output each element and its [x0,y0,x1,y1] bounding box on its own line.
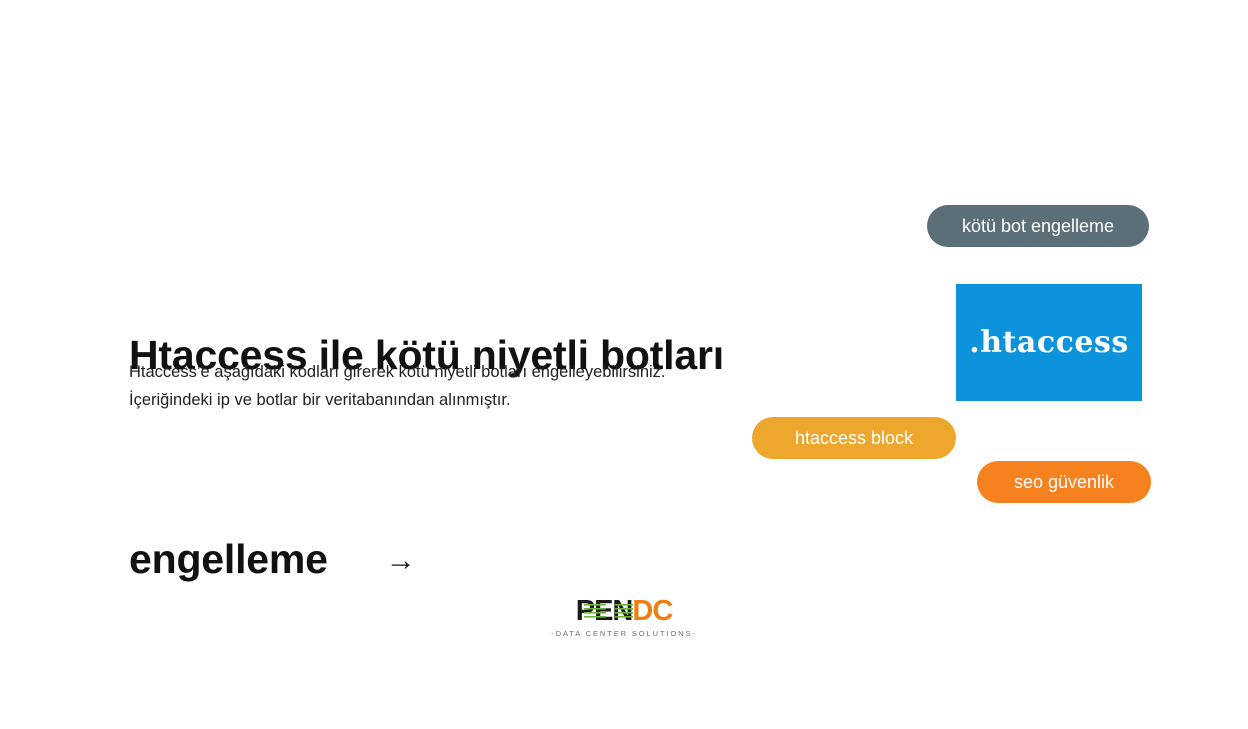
headline-line-2-row: engelleme → [129,525,859,593]
brand-logo: PENDC -DATA CENTER SOLUTIONS- [0,596,1248,638]
body-paragraph: Htaccess’e aşağıdaki kodları girerek köt… [129,358,729,414]
headline-line-2: engelleme [129,525,328,593]
brand-logo-tagline: -DATA CENTER SOLUTIONS- [551,629,697,638]
tag-pill-htaccess-block[interactable]: htaccess block [752,417,956,459]
brand-logo-wordmark: PENDC [576,596,673,626]
tag-pill-label: kötü bot engelleme [962,216,1114,237]
brand-logo-dc: DC [632,596,672,626]
tag-pill-kotu-bot-engelleme[interactable]: kötü bot engelleme [927,205,1149,247]
tag-pill-label: htaccess block [795,428,913,449]
slide-canvas: Htaccess ile kötü niyetli botları engell… [0,0,1248,702]
htaccess-image-label: .htaccess [969,328,1128,358]
arrow-right-icon: → [386,546,416,576]
tag-pill-seo-guvenlik[interactable]: seo güvenlik [977,461,1151,503]
brand-logo-pen: PEN [576,596,633,626]
htaccess-image: .htaccess [956,284,1142,401]
tag-pill-label: seo güvenlik [1014,472,1114,493]
page-title: Htaccess ile kötü niyetli botları engell… [129,185,859,729]
